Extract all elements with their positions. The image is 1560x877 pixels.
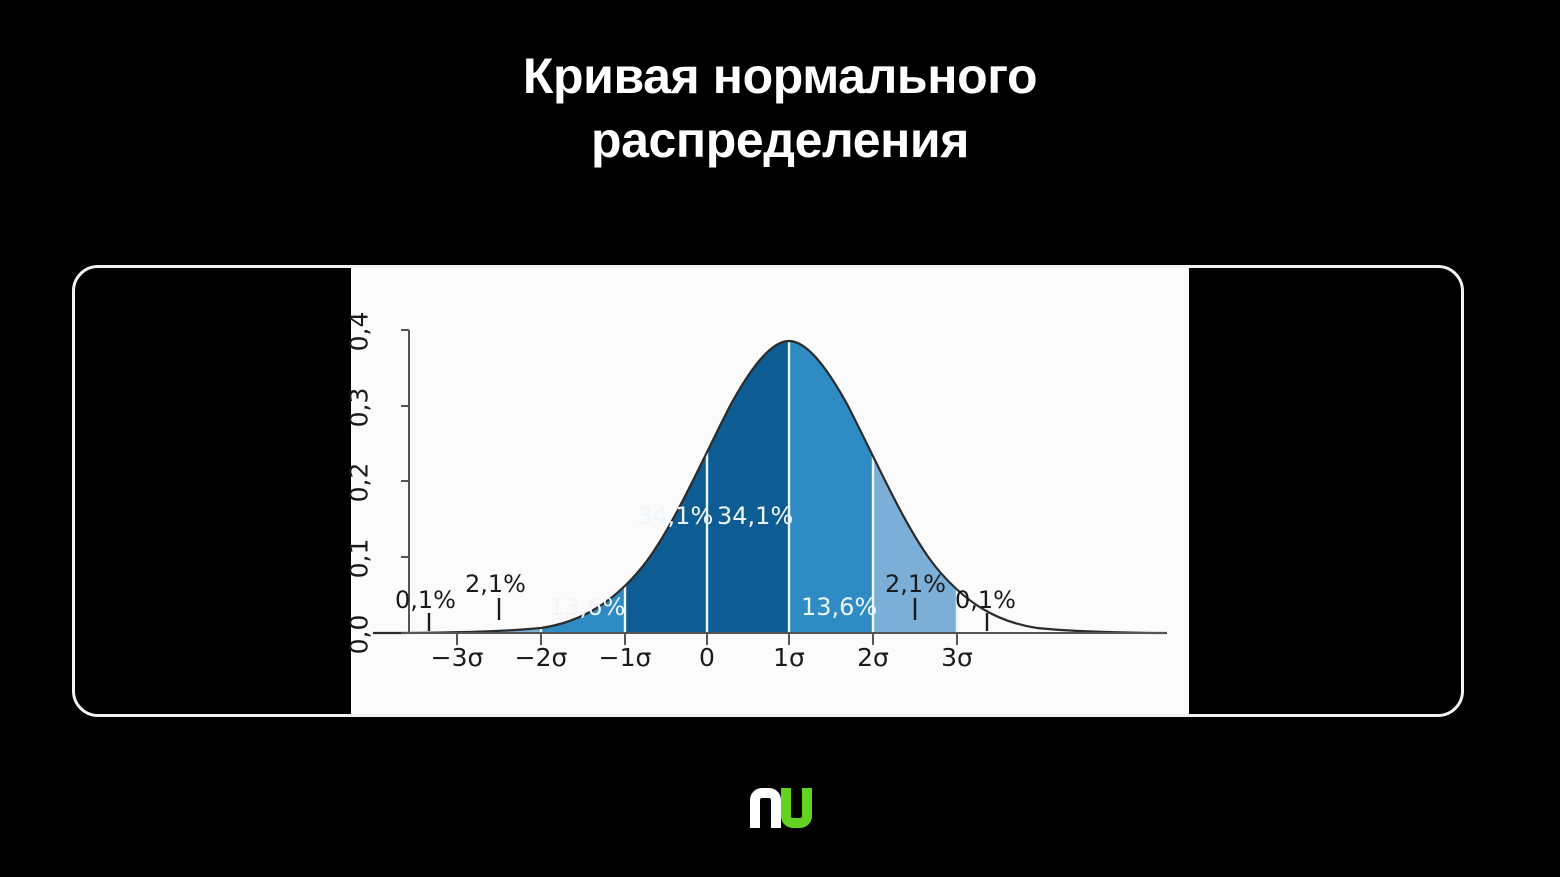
chart-panel: 0,0 0,1 0,2 0,3 0,4 −3σ −2σ −1σ 0 1σ 2σ … [351,268,1189,717]
logo-green-j [781,788,812,828]
annotation-left-0-1-percent: 0,1% [395,586,456,614]
x-tick-label-plus3sigma: 3σ [917,643,997,672]
annotation-right-13-6-percent: 13,6% [801,593,877,621]
chart-card: 0,0 0,1 0,2 0,3 0,4 −3σ −2σ −1σ 0 1σ 2σ … [72,265,1464,717]
x-tick-label-minus1sigma: −1σ [585,643,665,672]
y-tick-label-1: 0,1 [345,529,374,589]
page-title: Кривая нормального распределения [0,44,1560,172]
x-tick-label-plus2sigma: 2σ [833,643,913,672]
y-tick-label-3: 0,3 [345,378,374,438]
y-tick-label-4: 0,4 [345,302,374,362]
x-tick-label-minus2sigma: −2σ [501,643,581,672]
logo-white-n [750,788,781,828]
annotation-right-34-1-percent: 34,1% [717,502,793,530]
annotation-right-2-1-percent: 2,1% [885,570,946,598]
x-tick-label-plus1sigma: 1σ [749,643,829,672]
brand-logo-svg [748,786,814,830]
annotation-right-0-1-percent: 0,1% [955,586,1016,614]
annotation-left-2-1-percent: 2,1% [465,570,526,598]
y-tick-label-0: 0,0 [345,605,374,665]
y-tick-label-2: 0,2 [345,453,374,513]
x-tick-label-minus3sigma: −3σ [417,643,497,672]
annotation-left-34-1-percent: 34,1% [637,502,713,530]
x-tick-label-zero: 0 [667,643,747,672]
brand-logo [748,786,814,830]
normal-distribution-chart: 0,0 0,1 0,2 0,3 0,4 −3σ −2σ −1σ 0 1σ 2σ … [351,268,1189,717]
annotation-left-13-6-percent: 13,6% [549,593,625,621]
